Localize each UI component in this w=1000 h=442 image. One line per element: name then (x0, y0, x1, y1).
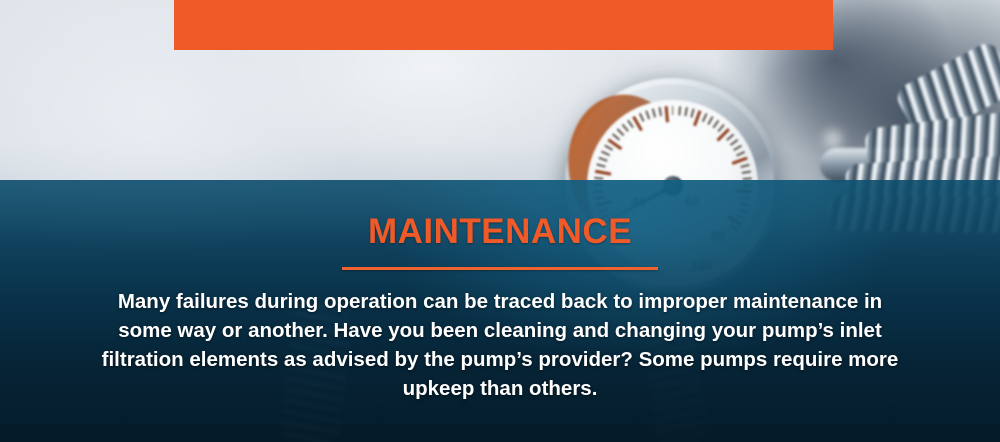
page-title: MAINTENANCE (368, 214, 632, 249)
banner-root: 40 60 80 100 MAINTENANCE Many failures d… (0, 0, 1000, 442)
banner-content: MAINTENANCE Many failures during operati… (0, 180, 1000, 442)
orange-accent-bar (174, 0, 833, 50)
title-underline-rule (342, 267, 658, 270)
body-paragraph: Many failures during operation can be tr… (90, 287, 910, 403)
